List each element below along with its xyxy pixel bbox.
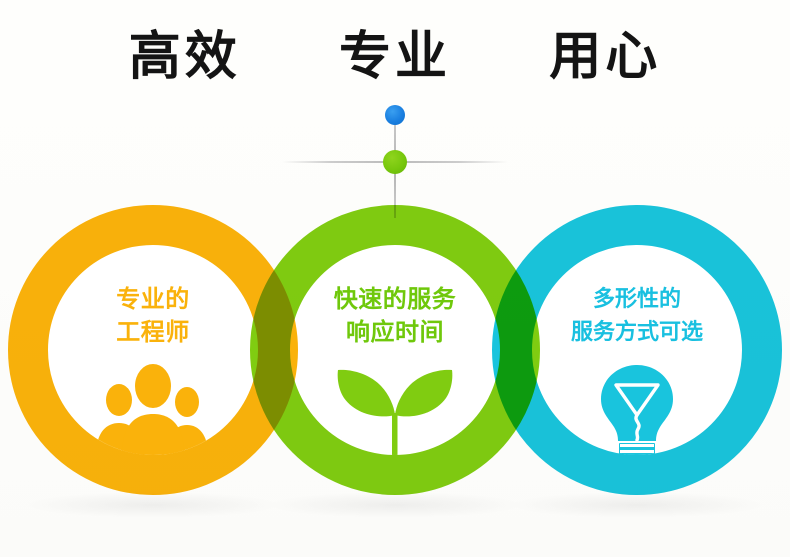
title-word-3: 用心	[549, 26, 661, 88]
connector-blue-dot-icon	[385, 105, 405, 125]
sprout-leaf-icon	[290, 359, 500, 455]
circle-content-response[interactable]: 快速的服务 响应时间	[290, 245, 500, 455]
caption-line: 工程师	[48, 316, 258, 349]
circle-caption-engineer: 专业的 工程师	[48, 283, 258, 349]
circle-shadow	[265, 492, 525, 518]
infographic-canvas: 高效 专业 用心 专业的 工程师	[0, 0, 790, 557]
caption-line: 响应时间	[290, 316, 500, 349]
circle-shadow	[507, 492, 767, 518]
circle-caption-service-modes: 多形性的 服务方式可选	[532, 283, 742, 349]
lightbulb-icon	[532, 359, 742, 455]
team-people-icon	[48, 359, 258, 455]
circle-shadow	[23, 492, 283, 518]
page-title: 高效 专业 用心	[0, 26, 790, 88]
circle-content-service-modes[interactable]: 多形性的 服务方式可选	[532, 245, 742, 455]
title-word-1: 高效	[129, 26, 241, 88]
caption-line: 专业的	[48, 283, 258, 316]
caption-line: 多形性的	[532, 283, 742, 316]
caption-line: 服务方式可选	[532, 316, 742, 349]
circle-content-engineer[interactable]: 专业的 工程师	[48, 245, 258, 455]
title-word-2: 专业	[339, 26, 451, 88]
caption-line: 快速的服务	[290, 283, 500, 316]
connector-green-dot-icon	[383, 150, 407, 174]
circle-caption-response: 快速的服务 响应时间	[290, 283, 500, 349]
